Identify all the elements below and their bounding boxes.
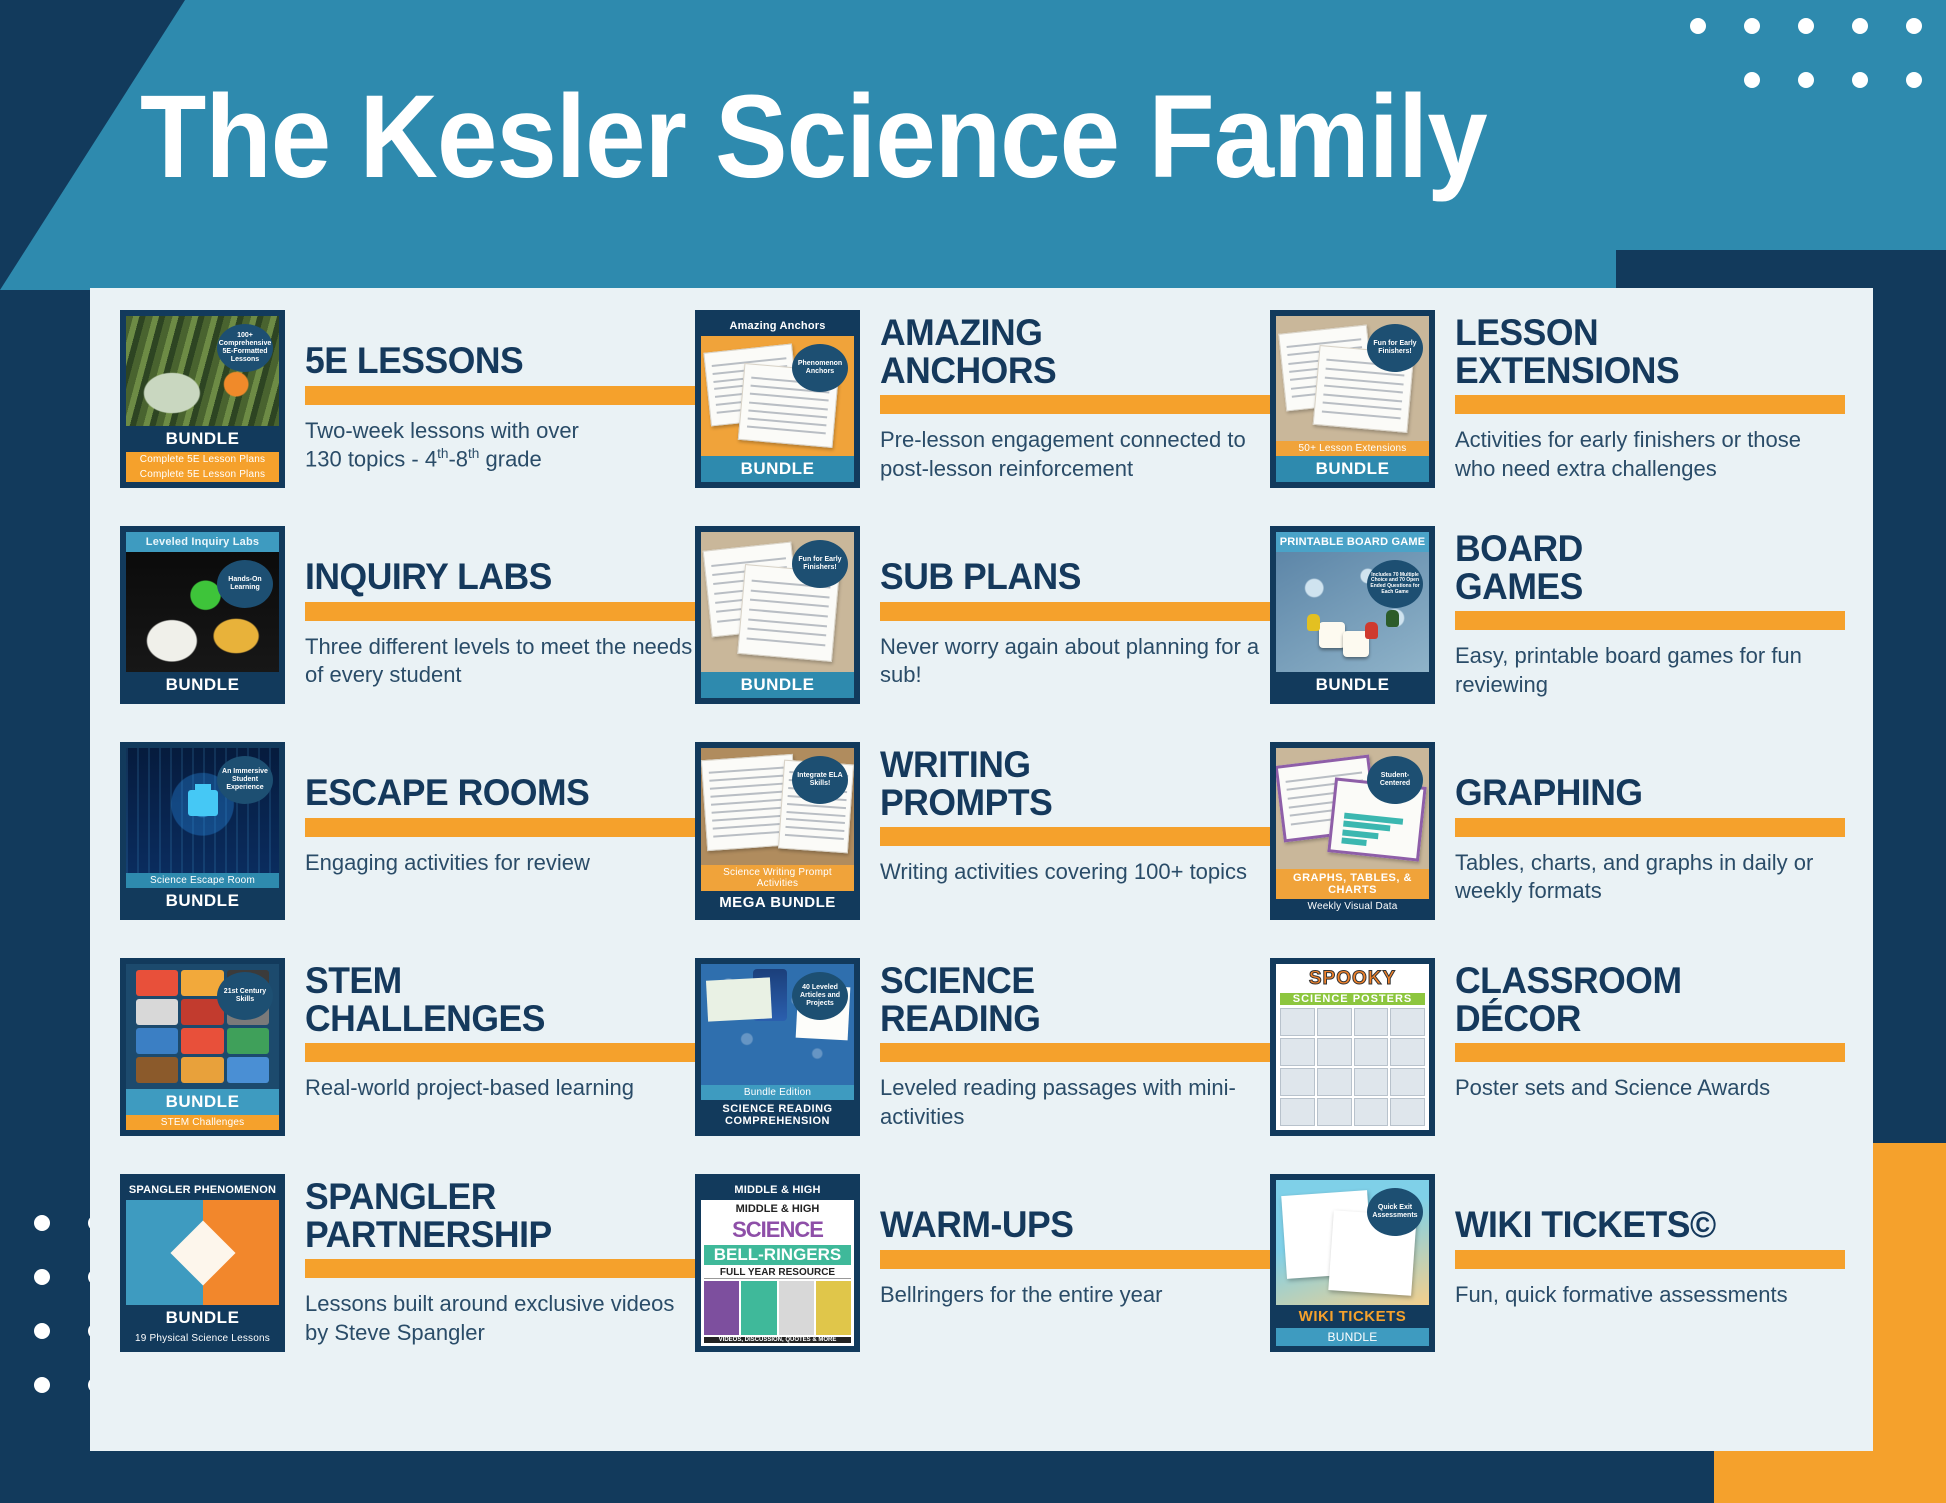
card-description: Lessons built around exclusive videos by… [305,1290,695,1347]
product-card[interactable]: Leveled Inquiry LabsHands-On LearningBUN… [120,526,695,742]
thumbnail-image: 100+ Comprehensive 5E-Formatted Lessons [126,316,279,426]
product-thumbnail[interactable]: 40 Leveled Articles and ProjectsBundle E… [695,958,860,1136]
card-text-block: SCIENCE READINGLeveled reading passages … [860,958,1270,1132]
thumb-art-bell-ringers: MIDDLE & HIGHSCIENCEBELL-RINGERSFULL YEA… [701,1200,854,1346]
thumbnail-footer: BUNDLE [126,888,279,914]
thumbnail-header: Leveled Inquiry Labs [126,532,279,552]
product-thumbnail[interactable]: An Immersive Student ExperienceScience E… [120,742,285,920]
thumbnail-footer: BUNDLE [701,672,854,698]
card-description: Easy, printable board games for fun revi… [1455,642,1845,699]
product-thumbnail[interactable]: SPANGLER PHENOMENONBUNDLE19 Physical Sci… [120,1174,285,1352]
title-underline-bar [1455,611,1845,630]
thumbnail-image: 21st Century Skills [126,964,279,1089]
thumbnail-subfooter: Complete 5E Lesson Plans [126,467,279,482]
product-card[interactable]: Fun for Early Finishers!BUNDLESUB PLANSN… [695,526,1270,742]
product-thumbnail[interactable]: Fun for Early Finishers!50+ Lesson Exten… [1270,310,1435,488]
product-thumbnail[interactable]: SPOOKYSPOOKYSCIENCE POSTERS [1270,958,1435,1136]
title-underline-bar [880,1250,1270,1269]
thumbnail-image: Fun for Early Finishers! [701,532,854,672]
title-underline-bar [305,1043,695,1062]
thumbnail-image: MIDDLE & HIGHSCIENCEBELL-RINGERSFULL YEA… [701,1200,854,1346]
thumbnail-footer: BUNDLE [1276,672,1429,698]
thumbnail-image: SPOOKYSCIENCE POSTERS [1276,964,1429,1130]
card-title: ESCAPE ROOMS [305,744,679,812]
card-text-block: LESSON EXTENSIONSActivities for early fi… [1435,310,1845,484]
product-thumbnail[interactable]: Integrate ELA Skills!Science Writing Pro… [695,742,860,920]
thumbnail-subfooter: Weekly Visual Data [1276,899,1429,914]
thumbnail-image [126,1200,279,1305]
thumbnail-subfooter: 19 Physical Science Lessons [126,1331,279,1346]
product-thumbnail[interactable]: 100+ Comprehensive 5E-Formatted LessonsC… [120,310,285,488]
title-underline-bar [305,818,695,837]
thumbnail-badge: Hands-On Learning [217,560,273,608]
thumbnail-header: PRINTABLE BOARD GAME [1276,532,1429,552]
card-description: Writing activities covering 100+ topics [880,858,1270,887]
thumbnail-badge: Student-Centered [1367,756,1423,804]
card-text-block: BOARD GAMESEasy, printable board games f… [1435,526,1845,700]
card-title: LESSON EXTENSIONS [1455,312,1829,389]
card-text-block: WARM-UPSBellringers for the entire year [860,1174,1270,1309]
card-title: CLASSROOM DÉCOR [1455,960,1829,1037]
card-description: Three different levels to meet the needs… [305,633,695,690]
title-underline-bar [880,827,1270,846]
product-card[interactable]: 100+ Comprehensive 5E-Formatted LessonsC… [120,310,695,526]
thumbnail-subfooter: Science Writing Prompt Activities [701,865,854,891]
thumb-art-spooky-posters: SPOOKYSCIENCE POSTERS [1276,964,1429,1130]
card-description: Real-world project-based learning [305,1074,695,1103]
thumbnail-footer: BUNDLE [126,672,279,698]
card-title: BOARD GAMES [1455,528,1829,605]
product-card[interactable]: Quick Exit AssessmentsWIKI TICKETSBUNDLE… [1270,1174,1845,1390]
card-text-block: 5E LESSONSTwo-week lessons with over130 … [285,310,695,474]
card-text-block: WRITING PROMPTSWriting activities coveri… [860,742,1270,887]
thumbnail-badge: Includes 70 Multiple Choice and 70 Open … [1367,560,1423,608]
card-title: AMAZING ANCHORS [880,312,1254,389]
thumbnail-badge: Phenomenon Anchors [792,344,848,392]
title-underline-bar [1455,818,1845,837]
card-description: Pre-lesson engagement connected to post-… [880,426,1270,483]
thumbnail-footer: WIKI TICKETS [1276,1305,1429,1328]
title-underline-bar [880,602,1270,621]
product-card[interactable]: Integrate ELA Skills!Science Writing Pro… [695,742,1270,958]
product-card-grid: 100+ Comprehensive 5E-Formatted LessonsC… [120,310,1845,1390]
card-description: Tables, charts, and graphs in daily or w… [1455,849,1845,906]
card-text-block: SUB PLANSNever worry again about plannin… [860,526,1270,690]
card-description: Never worry again about planning for a s… [880,633,1270,690]
thumbnail-subfooter: Bundle Edition [701,1085,854,1100]
product-card[interactable]: 21st Century SkillsBUNDLESTEM Challenges… [120,958,695,1174]
thumbnail-image: 40 Leveled Articles and Projects [701,964,854,1085]
product-thumbnail[interactable]: Fun for Early Finishers!BUNDLE [695,526,860,704]
card-text-block: SPANGLER PARTNERSHIPLessons built around… [285,1174,695,1348]
product-thumbnail[interactable]: PRINTABLE BOARD GAMEIncludes 70 Multiple… [1270,526,1435,704]
card-text-block: GRAPHINGTables, charts, and graphs in da… [1435,742,1845,906]
product-card[interactable]: 40 Leveled Articles and ProjectsBundle E… [695,958,1270,1174]
thumbnail-footer: BUNDLE [126,1089,279,1115]
thumbnail-footer: BUNDLE [126,1305,279,1331]
product-thumbnail[interactable]: MIDDLE & HIGHMIDDLE & HIGHSCIENCEBELL-RI… [695,1174,860,1352]
thumbnail-image: Phenomenon Anchors [701,336,854,456]
card-text-block: AMAZING ANCHORSPre-lesson engagement con… [860,310,1270,484]
card-description: Leveled reading passages with mini-activ… [880,1074,1270,1131]
card-title: GRAPHING [1455,744,1829,812]
thumbnail-header: Amazing Anchors [701,316,854,336]
card-title: WIKI TICKETS© [1455,1176,1829,1244]
product-card[interactable]: MIDDLE & HIGHMIDDLE & HIGHSCIENCEBELL-RI… [695,1174,1270,1390]
title-underline-bar [305,386,695,405]
card-description: Bellringers for the entire year [880,1281,1270,1310]
card-description: Engaging activities for review [305,849,695,878]
thumbnail-image: Integrate ELA Skills! [701,748,854,865]
card-title: SCIENCE READING [880,960,1254,1037]
card-description: Activities for early finishers or those … [1455,426,1845,483]
thumbnail-badge: Fun for Early Finishers! [1367,324,1423,372]
product-card[interactable]: Amazing AnchorsPhenomenon AnchorsBUNDLEA… [695,310,1270,526]
title-underline-bar [880,395,1270,414]
card-text-block: ESCAPE ROOMSEngaging activities for revi… [285,742,695,877]
product-thumbnail[interactable]: Student-CenteredGRAPHS, TABLES, & CHARTS… [1270,742,1435,920]
title-underline-bar [305,1259,695,1278]
thumb-art-spangler-logos [126,1200,279,1305]
product-thumbnail[interactable]: Amazing AnchorsPhenomenon AnchorsBUNDLE [695,310,860,488]
thumbnail-header: SPANGLER PHENOMENON [126,1180,279,1200]
card-description: Two-week lessons with over130 topics - 4… [305,417,695,475]
thumbnail-subfooter: STEM Challenges [126,1115,279,1130]
thumbnail-subfooter: 50+ Lesson Extensions [1276,441,1429,456]
thumbnail-badge: An Immersive Student Experience [217,756,273,804]
thumbnail-image: Quick Exit Assessments [1276,1180,1429,1305]
card-title: INQUIRY LABS [305,528,679,596]
main-panel: 100+ Comprehensive 5E-Formatted LessonsC… [90,288,1873,1451]
thumbnail-footer: BUNDLE [126,426,279,452]
page-title: The Kesler Science Family [140,78,1487,196]
card-title: 5E LESSONS [305,312,679,380]
card-description: Poster sets and Science Awards [1455,1074,1845,1103]
product-card[interactable]: SPOOKYSPOOKYSCIENCE POSTERSCLASSROOM DÉC… [1270,958,1845,1174]
product-thumbnail[interactable]: 21st Century SkillsBUNDLESTEM Challenges [120,958,285,1136]
title-underline-bar [305,602,695,621]
thumbnail-footer: BUNDLE [701,456,854,482]
thumbnail-image: Hands-On Learning [126,552,279,672]
thumbnail-badge: Quick Exit Assessments [1367,1188,1423,1236]
thumbnail-footer: BUNDLE [1276,456,1429,482]
product-thumbnail[interactable]: Leveled Inquiry LabsHands-On LearningBUN… [120,526,285,704]
card-text-block: STEM CHALLENGESReal-world project-based … [285,958,695,1103]
thumbnail-subfooter: Complete 5E Lesson Plans [126,452,279,467]
thumbnail-subfooter: Science Escape Room [126,873,279,888]
card-text-block: WIKI TICKETS©Fun, quick formative assess… [1435,1174,1845,1309]
thumbnail-badge: 100+ Comprehensive 5E-Formatted Lessons [217,324,273,372]
product-thumbnail[interactable]: Quick Exit AssessmentsWIKI TICKETSBUNDLE [1270,1174,1435,1352]
card-title: STEM CHALLENGES [305,960,679,1037]
thumbnail-badge: 40 Leveled Articles and Projects [792,972,848,1020]
thumbnail-image: Student-Centered [1276,748,1429,869]
product-card[interactable]: Student-CenteredGRAPHS, TABLES, & CHARTS… [1270,742,1845,958]
card-text-block: INQUIRY LABSThree different levels to me… [285,526,695,690]
thumbnail-footer: MEGA BUNDLE [701,891,854,914]
thumbnail-image: Fun for Early Finishers! [1276,316,1429,441]
card-description: Fun, quick formative assessments [1455,1281,1845,1310]
title-underline-bar [1455,1250,1845,1269]
title-underline-bar [1455,1043,1845,1062]
product-card[interactable]: Fun for Early Finishers!50+ Lesson Exten… [1270,310,1845,526]
card-title: SPANGLER PARTNERSHIP [305,1176,679,1253]
dot-pattern-top-right [1690,18,1922,88]
card-text-block: CLASSROOM DÉCORPoster sets and Science A… [1435,958,1845,1103]
thumbnail-badge: Integrate ELA Skills! [792,756,848,804]
thumbnail-subfooter: BUNDLE [1276,1328,1429,1346]
thumbnail-badge: 21st Century Skills [217,972,273,1020]
thumbnail-footer: SCIENCE READING COMPREHENSION [701,1100,854,1130]
thumbnail-image: Includes 70 Multiple Choice and 70 Open … [1276,552,1429,672]
card-title: WRITING PROMPTS [880,744,1254,821]
product-card[interactable]: SPANGLER PHENOMENONBUNDLE19 Physical Sci… [120,1174,695,1390]
product-card[interactable]: An Immersive Student ExperienceScience E… [120,742,695,958]
thumbnail-image: An Immersive Student Experience [126,748,279,873]
title-underline-bar [1455,395,1845,414]
thumbnail-badge: Fun for Early Finishers! [792,540,848,588]
card-title: WARM-UPS [880,1176,1254,1244]
thumbnail-footer: GRAPHS, TABLES, & CHARTS [1276,869,1429,899]
product-card[interactable]: PRINTABLE BOARD GAMEIncludes 70 Multiple… [1270,526,1845,742]
thumbnail-header: MIDDLE & HIGH [701,1180,854,1200]
card-title: SUB PLANS [880,528,1254,596]
title-underline-bar [880,1043,1270,1062]
